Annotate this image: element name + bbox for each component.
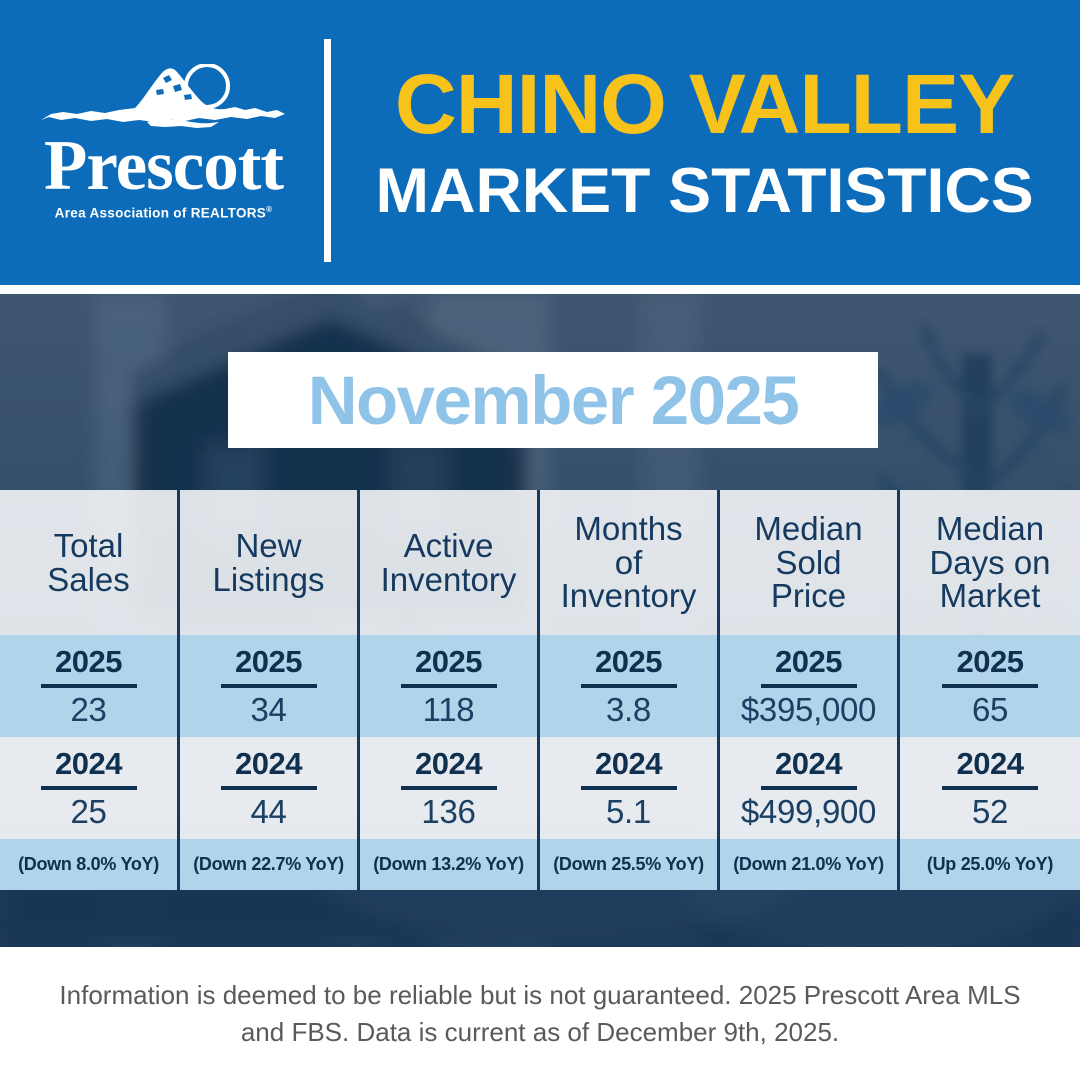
column-header: New Listings [180,490,357,635]
stat-column-total-sales: Total Sales 2025 23 2024 25 (Down 8.0% Y… [0,490,180,890]
column-header-label: Median Days on Market [929,512,1050,614]
year-label-2025: 2025 [235,646,302,677]
stat-column-months-of-inventory: Months of Inventory 2025 3.8 2024 5.1 (D… [540,490,720,890]
month-label: November 2025 [308,366,799,435]
yoy-label: (Down 21.0% YoY) [733,854,884,875]
year-label-2024: 2024 [235,748,302,779]
stat-column-median-days-on-market: Median Days on Market 2025 65 2024 52 (U… [900,490,1080,890]
year-rule [221,684,317,688]
year-rule [581,684,677,688]
yoy-row: (Down 8.0% YoY) [0,839,177,890]
year-label-2024: 2024 [55,748,122,779]
year-rule [41,684,137,688]
value-2024: 25 [70,795,106,828]
year-label-2025: 2025 [55,646,122,677]
value-2024: 52 [972,795,1008,828]
yoy-row: (Down 22.7% YoY) [180,839,357,890]
year-rule [221,786,317,790]
yoy-label: (Down 22.7% YoY) [193,854,344,875]
stat-column-active-inventory: Active Inventory 2025 118 2024 136 (Down… [360,490,540,890]
year-rule [942,684,1038,688]
column-header: Total Sales [0,490,177,635]
year-rule [401,786,497,790]
year-label-2025: 2025 [957,646,1024,677]
prior-year-row: 2024 5.1 [540,737,717,839]
year-label-2024: 2024 [595,748,662,779]
yoy-label: (Up 25.0% YoY) [927,854,1053,875]
prior-year-row: 2024 136 [360,737,537,839]
prior-year-row: 2024 25 [0,737,177,839]
value-2025: 23 [70,693,106,726]
current-year-row: 2025 34 [180,635,357,737]
year-rule [942,786,1038,790]
value-2024: 136 [421,795,475,828]
value-2025: 65 [972,693,1008,726]
value-2024: 5.1 [606,795,651,828]
year-label-2025: 2025 [595,646,662,677]
year-rule [581,786,677,790]
brand-logo: Prescott Area Association of REALTORS® [0,0,327,285]
current-year-row: 2025 3.8 [540,635,717,737]
column-header-label: New Listings [213,529,325,597]
statistics-table: Total Sales 2025 23 2024 25 (Down 8.0% Y… [0,490,1080,890]
column-header-label: Median Sold Price [754,512,862,614]
header-title-group: CHINO VALLEY MARKET STATISTICS [355,0,1055,285]
yoy-label: (Down 8.0% YoY) [18,854,159,875]
value-2025: 3.8 [606,693,651,726]
current-year-row: 2025 23 [0,635,177,737]
prior-year-row: 2024 52 [900,737,1080,839]
page-subtitle: MARKET STATISTICS [376,160,1034,223]
prior-year-row: 2024 44 [180,737,357,839]
stat-column-median-sold-price: Median Sold Price 2025 $395,000 2024 $49… [720,490,900,890]
stat-column-new-listings: New Listings 2025 34 2024 44 (Down 22.7%… [180,490,360,890]
column-header-label: Total Sales [47,529,130,597]
column-header: Months of Inventory [540,490,717,635]
footer: Information is deemed to be reliable but… [0,947,1080,1080]
mountain-sun-logo-icon [39,64,289,136]
current-year-row: 2025 $395,000 [720,635,897,737]
value-2025: 118 [423,693,475,726]
current-year-row: 2025 118 [360,635,537,737]
logo-wordmark: Prescott [44,134,283,199]
column-header-label: Months of Inventory [561,512,697,614]
value-2025: 34 [250,693,286,726]
yoy-row: (Down 21.0% YoY) [720,839,897,890]
column-header: Median Days on Market [900,490,1080,635]
header-banner: Prescott Area Association of REALTORS® C… [0,0,1080,285]
year-rule [401,684,497,688]
yoy-label: (Down 13.2% YoY) [373,854,524,875]
column-header: Median Sold Price [720,490,897,635]
header-vertical-divider [324,39,331,262]
market-statistics-infographic: Prescott Area Association of REALTORS® C… [0,0,1080,1080]
prior-year-row: 2024 $499,900 [720,737,897,839]
year-label-2024: 2024 [415,748,482,779]
yoy-row: (Down 25.5% YoY) [540,839,717,890]
yoy-row: (Up 25.0% YoY) [900,839,1080,890]
yoy-label: (Down 25.5% YoY) [553,854,704,875]
year-rule [41,786,137,790]
year-label-2024: 2024 [775,748,842,779]
current-year-row: 2025 65 [900,635,1080,737]
year-label-2025: 2025 [775,646,842,677]
column-header: Active Inventory [360,490,537,635]
year-rule [761,786,857,790]
logo-tagline: Area Association of REALTORS® [55,205,273,221]
disclaimer-text: Information is deemed to be reliable but… [40,977,1040,1051]
column-header-label: Active Inventory [381,529,517,597]
value-2025: $395,000 [741,693,876,726]
value-2024: 44 [250,795,286,828]
year-label-2024: 2024 [957,748,1024,779]
month-banner: November 2025 [228,352,878,448]
year-label-2025: 2025 [415,646,482,677]
value-2024: $499,900 [741,795,876,828]
page-title: CHINO VALLEY [395,62,1014,146]
year-rule [761,684,857,688]
yoy-row: (Down 13.2% YoY) [360,839,537,890]
